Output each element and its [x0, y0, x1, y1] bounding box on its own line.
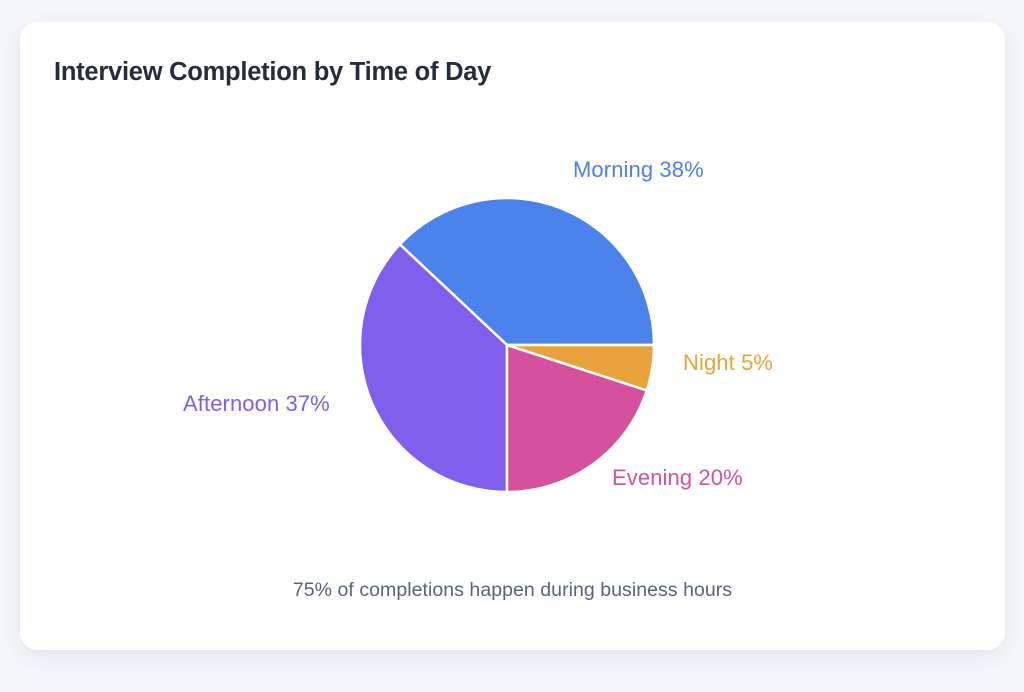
- chart-card: Interview Completion by Time of Day Morn…: [20, 22, 1005, 650]
- pie-label-afternoon: Afternoon 37%: [183, 393, 330, 415]
- pie-chart: Morning 38% Afternoon 37% Evening 20% Ni…: [20, 22, 1005, 650]
- pie-slice-group: [360, 198, 654, 492]
- pie-label-night: Night 5%: [683, 352, 773, 374]
- chart-footnote: 75% of completions happen during busines…: [20, 579, 1005, 602]
- pie-chart-svg: [20, 22, 1005, 650]
- page-root: Interview Completion by Time of Day Morn…: [0, 0, 1024, 692]
- pie-label-evening: Evening 20%: [612, 467, 743, 489]
- pie-label-morning: Morning 38%: [573, 159, 704, 181]
